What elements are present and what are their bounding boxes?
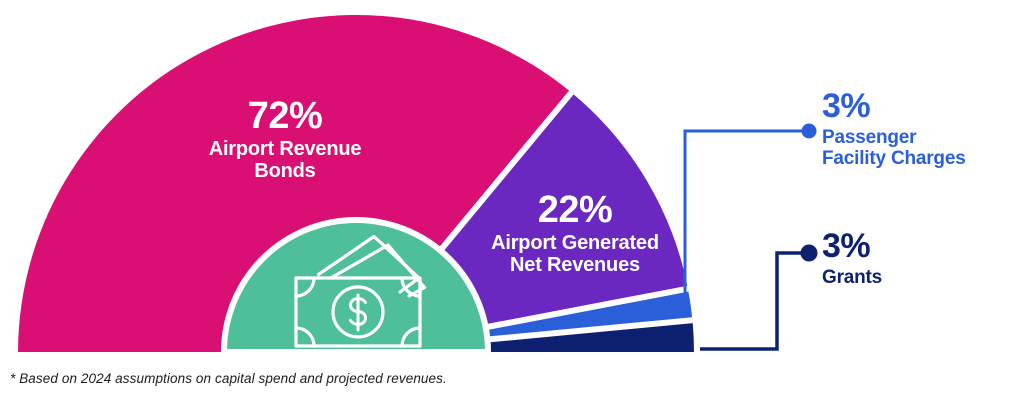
leader-path-pfc — [685, 131, 805, 308]
footnote-text: * Based on 2024 assumptions on capital s… — [10, 371, 447, 386]
callout-name-pfc-line1: Passenger — [822, 128, 1018, 149]
leader-path-grants — [700, 253, 805, 349]
semicircle-pie-chart — [0, 0, 1024, 400]
callout-name-grants-line1: Grants — [822, 268, 1018, 289]
callout-percent-pfc: 3% — [822, 88, 1018, 125]
callout-grants: 3% Grants — [822, 228, 1018, 289]
infographic-canvas: 72% Airport Revenue Bonds 22% Airport Ge… — [0, 0, 1024, 400]
callout-percent-grants: 3% — [822, 228, 1018, 265]
leader-line-grants — [700, 245, 818, 350]
leader-dot-pfc — [802, 124, 817, 139]
callout-name-pfc-line2: Facility Charges — [822, 149, 1018, 170]
leader-dot-grants — [801, 245, 818, 262]
callout-passenger-facility-charges: 3% Passenger Facility Charges — [822, 88, 1018, 170]
leader-line-passenger-facility-charges — [685, 124, 817, 309]
